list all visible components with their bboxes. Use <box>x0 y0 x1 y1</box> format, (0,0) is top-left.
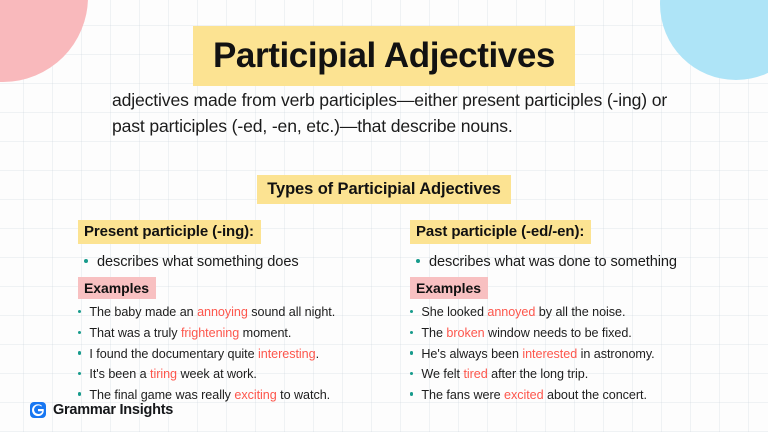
example-text: The final game was really exciting to wa… <box>89 389 330 402</box>
example-text-post: in astronomy. <box>577 347 654 361</box>
example-text: The baby made an annoying sound all nigh… <box>89 306 335 319</box>
example-text: It's been a tiring week at work. <box>89 368 256 381</box>
example-text-pre: I found the documentary quite <box>89 347 258 361</box>
example-text: We felt tired after the long trip. <box>421 368 588 381</box>
bullet-icon <box>84 259 88 263</box>
column-definition-text: describes what something does <box>97 254 299 270</box>
title-container: Participial Adjectives <box>0 26 768 86</box>
example-text-pre: That was a truly <box>89 326 181 340</box>
example-item: He's always been interested in astronomy… <box>410 348 756 361</box>
grammar-insights-logo-icon <box>30 402 46 418</box>
bullet-icon <box>78 310 81 313</box>
example-text-pre: The <box>421 326 446 340</box>
bullet-icon <box>410 351 413 354</box>
example-item: We felt tired after the long trip. <box>410 368 756 381</box>
example-highlight-word: excited <box>504 388 544 402</box>
bullet-icon <box>78 331 81 334</box>
example-highlight-word: frightening <box>181 326 239 340</box>
examples-list: She looked annoyed by all the noise.The … <box>410 306 756 401</box>
footer-brand: Grammar Insights <box>30 402 173 418</box>
example-text-post: . <box>316 347 319 361</box>
column-present-participle: Present participle (-ing): describes wha… <box>78 220 408 409</box>
example-text-post: after the long trip. <box>488 367 588 381</box>
example-text-pre: The fans were <box>421 388 504 402</box>
bullet-icon <box>410 392 413 395</box>
brand-name: Grammar Insights <box>53 402 173 418</box>
example-item: The fans were excited about the concert. <box>410 389 756 402</box>
example-item: It's been a tiring week at work. <box>78 368 408 381</box>
example-text-post: week at work. <box>177 367 257 381</box>
example-text-post: to watch. <box>277 388 330 402</box>
example-highlight-word: interested <box>522 347 577 361</box>
column-definition: describes what something does <box>84 254 408 270</box>
bullet-icon <box>78 351 81 354</box>
bullet-icon <box>416 259 420 263</box>
example-text-post: moment. <box>239 326 291 340</box>
example-text: He's always been interested in astronomy… <box>421 348 654 361</box>
example-highlight-word: broken <box>446 326 484 340</box>
bullet-icon <box>410 310 413 313</box>
example-highlight-word: annoyed <box>487 305 535 319</box>
types-banner: Types of Participial Adjectives <box>257 175 510 204</box>
examples-list: The baby made an annoying sound all nigh… <box>78 306 408 401</box>
example-text-post: about the concert. <box>544 388 647 402</box>
column-heading: Present participle (-ing): <box>78 220 261 244</box>
example-text-post: by all the noise. <box>535 305 625 319</box>
example-item: The baby made an annoying sound all nigh… <box>78 306 408 319</box>
example-highlight-word: tired <box>463 367 487 381</box>
example-text-pre: She looked <box>421 305 487 319</box>
intro-paragraph: adjectives made from verb participles—ei… <box>112 88 672 140</box>
bullet-icon <box>78 372 81 375</box>
example-item: She looked annoyed by all the noise. <box>410 306 756 319</box>
example-item: I found the documentary quite interestin… <box>78 348 408 361</box>
bullet-icon <box>78 392 81 395</box>
example-text-pre: We felt <box>421 367 463 381</box>
example-highlight-word: interesting <box>258 347 316 361</box>
example-text-post: window needs to be fixed. <box>485 326 632 340</box>
page-title: Participial Adjectives <box>193 26 575 86</box>
column-heading: Past participle (-ed/-en): <box>410 220 591 244</box>
column-definition: describes what was done to something <box>416 254 756 270</box>
example-text-pre: He's always been <box>421 347 522 361</box>
column-past-participle: Past participle (-ed/-en): describes wha… <box>410 220 756 409</box>
example-text-pre: The final game was really <box>89 388 234 402</box>
example-text: She looked annoyed by all the noise. <box>421 306 625 319</box>
slide-canvas: Participial Adjectives adjectives made f… <box>0 0 768 432</box>
example-text-pre: The baby made an <box>89 305 197 319</box>
example-text: I found the documentary quite interestin… <box>89 348 319 361</box>
examples-label: Examples <box>78 277 156 299</box>
example-text-pre: It's been a <box>89 367 150 381</box>
example-item: The final game was really exciting to wa… <box>78 389 408 402</box>
example-text: The broken window needs to be fixed. <box>421 327 631 340</box>
column-definition-text: describes what was done to something <box>429 254 677 270</box>
bullet-icon <box>410 372 413 375</box>
example-item: That was a truly frightening moment. <box>78 327 408 340</box>
example-text: That was a truly frightening moment. <box>89 327 291 340</box>
example-item: The broken window needs to be fixed. <box>410 327 756 340</box>
example-text: The fans were excited about the concert. <box>421 389 647 402</box>
example-highlight-word: exciting <box>234 388 276 402</box>
example-text-post: sound all night. <box>248 305 335 319</box>
types-banner-container: Types of Participial Adjectives <box>0 175 768 204</box>
example-highlight-word: tiring <box>150 367 177 381</box>
example-highlight-word: annoying <box>197 305 248 319</box>
bullet-icon <box>410 331 413 334</box>
examples-label: Examples <box>410 277 488 299</box>
